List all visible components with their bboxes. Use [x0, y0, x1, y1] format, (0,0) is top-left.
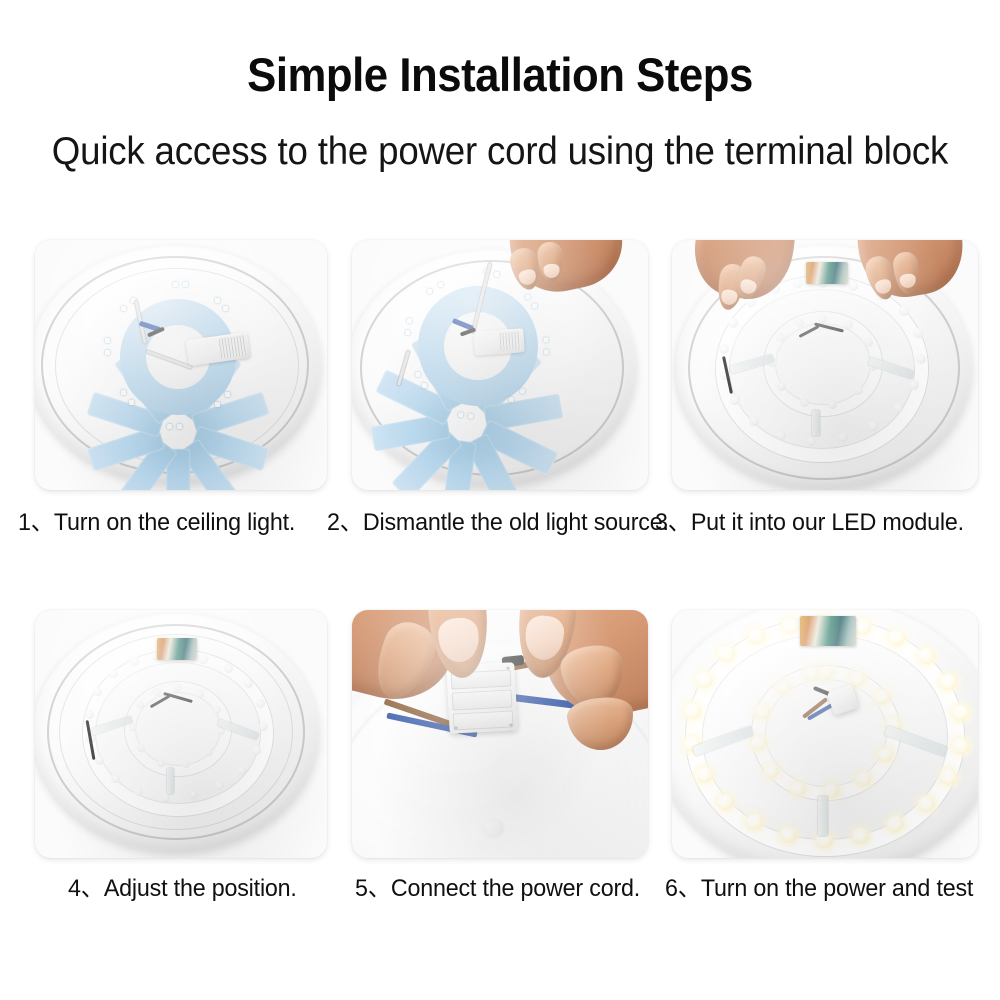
scene-ring-module-seated [35, 610, 327, 858]
scene-hand-removing-board [352, 240, 648, 490]
page-subtitle: Quick access to the power cord using the… [30, 130, 970, 174]
steps-row-top [0, 240, 1000, 490]
scene-ceiling-base-old-board [35, 240, 327, 490]
led-driver-box [473, 328, 525, 355]
scene-connecting-terminal-block [352, 610, 648, 858]
step-3-photo [672, 240, 978, 490]
step-3-caption: 3、Put it into our LED module. [655, 503, 964, 538]
step-5-caption: 5、Connect the power cord. [355, 869, 640, 904]
inner-led-ring [752, 666, 900, 800]
ring-spoke [167, 768, 174, 794]
ring-spoke [812, 410, 820, 436]
page-title: Simple Installation Steps [35, 47, 965, 102]
step-1-caption: 1、Turn on the ceiling light. [18, 503, 295, 538]
step-2-photo [352, 240, 648, 490]
fixture-center-boss [480, 818, 504, 838]
step-2-caption: 2、Dismantle the old light source. [327, 503, 669, 538]
step-4-caption: 4、Adjust the position. [68, 869, 297, 904]
step-6-photo [672, 610, 978, 858]
installation-steps-infographic: Simple Installation Steps Quick access t… [0, 0, 1000, 1000]
module-driver-pcb [800, 616, 856, 646]
step-4-photo [35, 610, 327, 858]
steps-row-bottom [0, 610, 1000, 858]
scene-installing-ring-module [672, 240, 978, 490]
step-5-photo [352, 610, 648, 858]
module-driver-pcb [806, 262, 848, 284]
step-1-photo [35, 240, 327, 490]
scene-module-powered-on [672, 610, 978, 858]
ring-spoke [818, 796, 828, 836]
module-driver-pcb [157, 638, 197, 660]
step-6-caption: 6、Turn on the power and test [665, 869, 973, 904]
